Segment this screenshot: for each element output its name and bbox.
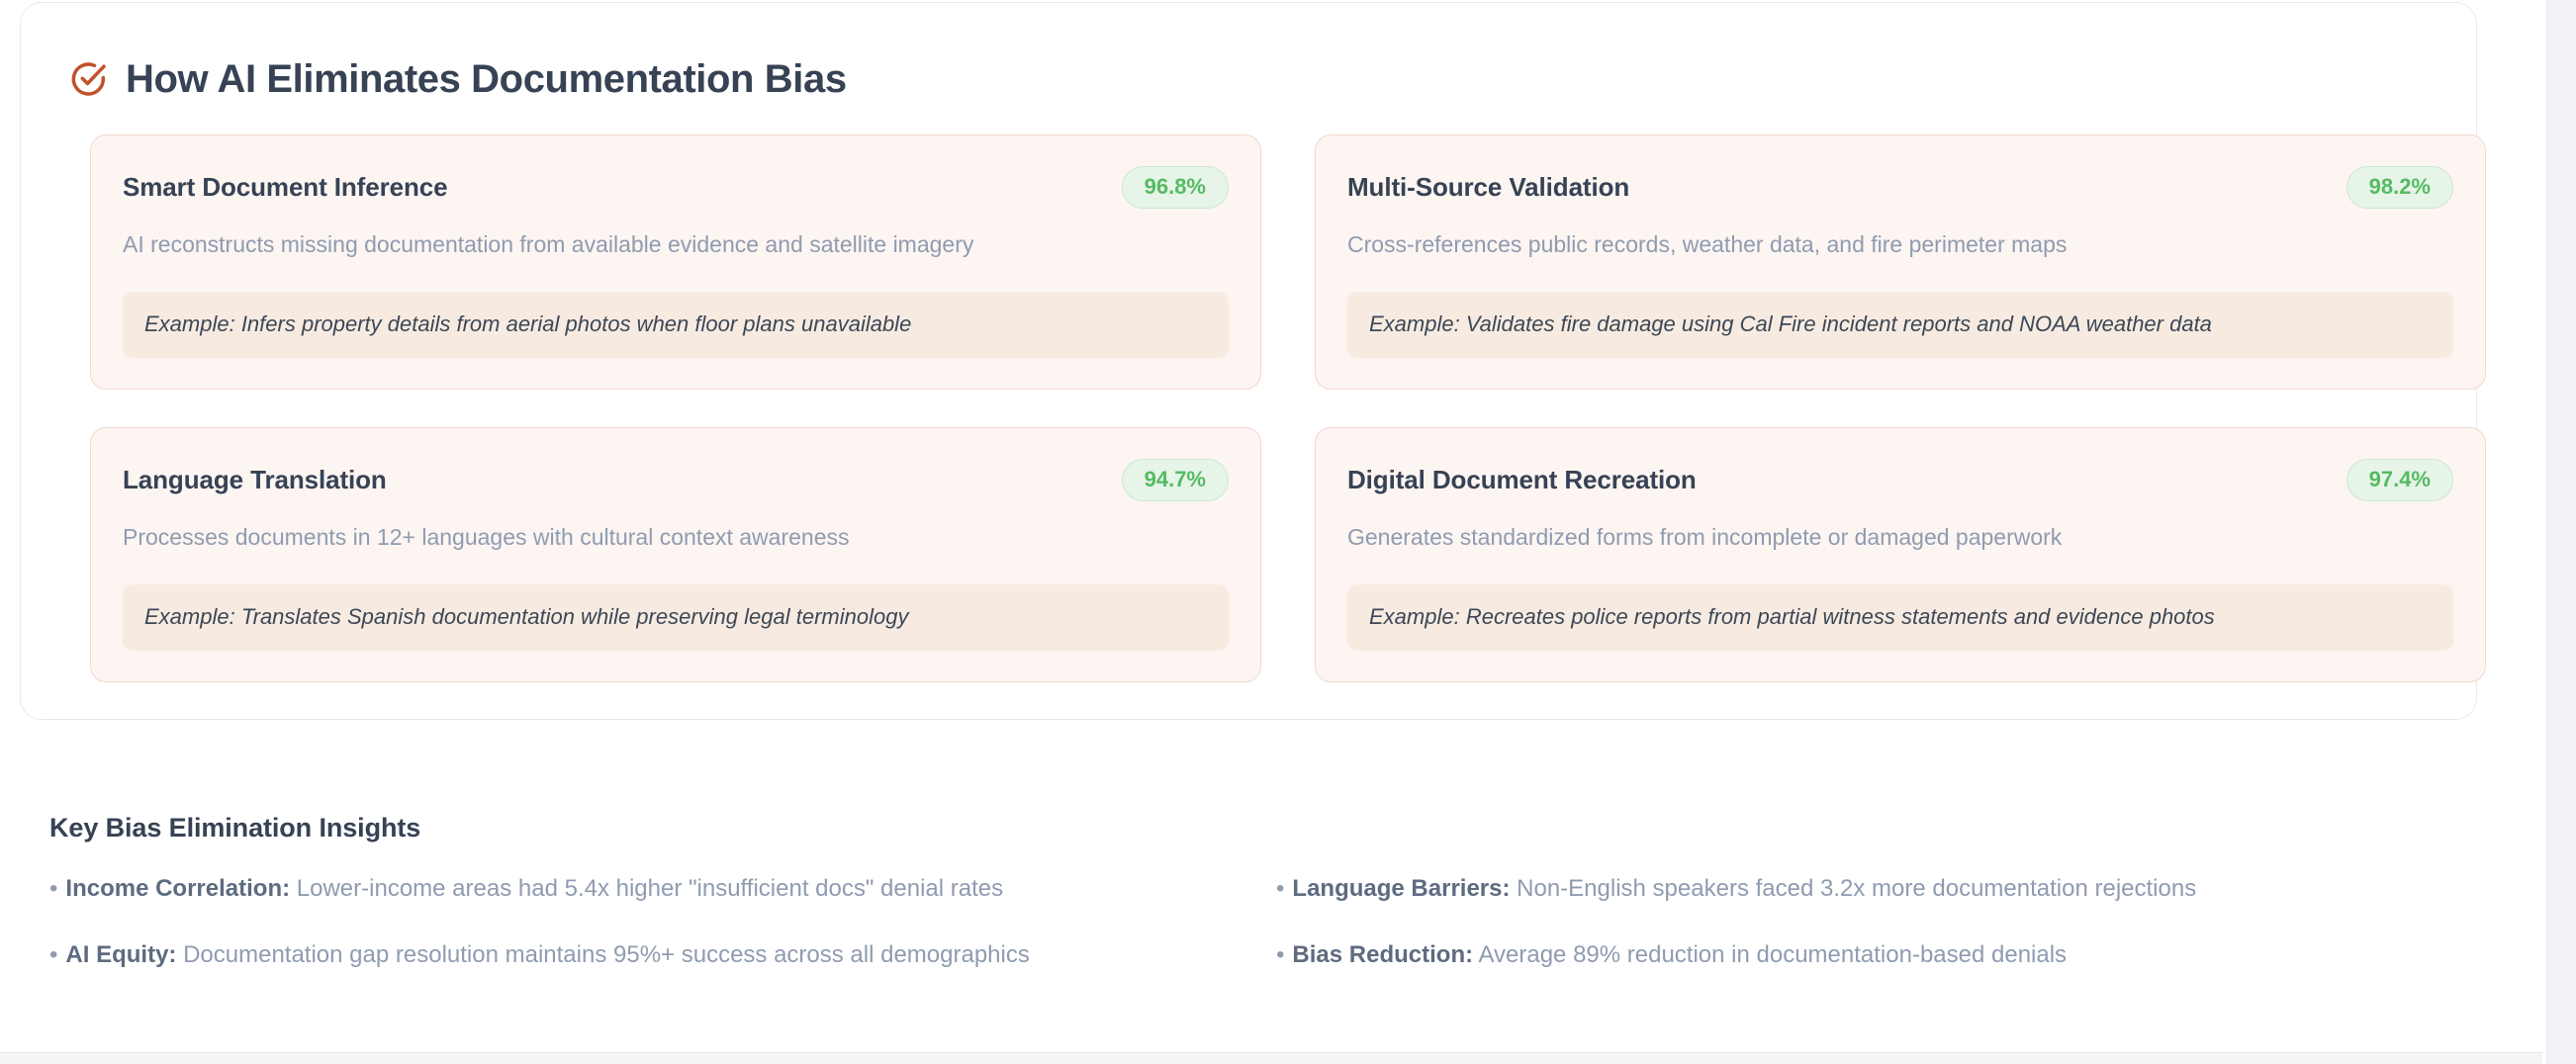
bullet-icon: • xyxy=(49,877,57,901)
card-description: AI reconstructs missing documentation fr… xyxy=(123,230,1229,260)
insight-text: Lower-income areas had 5.4x higher "insu… xyxy=(297,875,1003,902)
feature-card[interactable]: Smart Document Inference 96.8% AI recons… xyxy=(90,134,1261,390)
bullet-icon: • xyxy=(49,943,57,967)
feature-card[interactable]: Multi-Source Validation 98.2% Cross-refe… xyxy=(1315,134,2486,390)
card-description: Generates standardized forms from incomp… xyxy=(1347,523,2453,553)
feature-card[interactable]: Digital Document Recreation 97.4% Genera… xyxy=(1315,427,2486,682)
insight-item: • Bias Reduction: Average 89% reduction … xyxy=(1276,939,2463,971)
card-header: Multi-Source Validation 98.2% xyxy=(1347,165,2453,209)
card-title: Smart Document Inference xyxy=(123,173,447,202)
insight-text: Non-English speakers faced 3.2x more doc… xyxy=(1517,875,2196,902)
card-example: Example: Translates Spanish documentatio… xyxy=(123,584,1229,652)
accuracy-badge: 98.2% xyxy=(2346,166,2453,209)
insight-label: Bias Reduction: xyxy=(1292,941,1473,968)
insights-title: Key Bias Elimination Insights xyxy=(49,813,2463,843)
circle-check-icon xyxy=(68,59,108,99)
insight-text: Documentation gap resolution maintains 9… xyxy=(183,941,1030,968)
card-title: Language Translation xyxy=(123,466,387,494)
page-title: How AI Eliminates Documentation Bias xyxy=(126,59,847,99)
feature-card[interactable]: Language Translation 94.7% Processes doc… xyxy=(90,427,1261,682)
bullet-icon: • xyxy=(1276,877,1284,901)
card-example: Example: Validates fire damage using Cal… xyxy=(1347,292,2453,359)
insight-text: Average 89% reduction in documentation-b… xyxy=(1478,941,2067,968)
card-title: Multi-Source Validation xyxy=(1347,173,1629,202)
insight-label: AI Equity: xyxy=(65,941,176,968)
card-header: Digital Document Recreation 97.4% xyxy=(1347,458,2453,501)
insight-label: Income Correlation: xyxy=(65,875,290,902)
card-description: Cross-references public records, weather… xyxy=(1347,230,2453,260)
card-example: Example: Infers property details from ae… xyxy=(123,292,1229,359)
card-description: Processes documents in 12+ languages wit… xyxy=(123,523,1229,553)
insight-item: • Language Barriers: Non-English speaker… xyxy=(1276,873,2463,905)
panel-header: How AI Eliminates Documentation Bias xyxy=(68,33,847,126)
card-header: Smart Document Inference 96.8% xyxy=(123,165,1229,209)
key-insights-section: Key Bias Elimination Insights • Income C… xyxy=(49,791,2463,971)
vertical-scrollbar-track[interactable] xyxy=(2546,0,2576,1064)
insight-item: • Income Correlation: Lower-income areas… xyxy=(49,873,1276,905)
accuracy-badge: 94.7% xyxy=(1122,459,1229,501)
documentation-bias-panel: How AI Eliminates Documentation Bias Sma… xyxy=(20,2,2477,720)
card-title: Digital Document Recreation xyxy=(1347,466,1697,494)
insight-item: • AI Equity: Documentation gap resolutio… xyxy=(49,939,1276,971)
bullet-icon: • xyxy=(1276,943,1284,967)
card-example: Example: Recreates police reports from p… xyxy=(1347,584,2453,652)
feature-card-grid: Smart Document Inference 96.8% AI recons… xyxy=(90,134,2444,682)
bottom-strip xyxy=(0,1053,2542,1064)
accuracy-badge: 97.4% xyxy=(2346,459,2453,501)
insights-grid: • Income Correlation: Lower-income areas… xyxy=(49,873,2463,971)
page-root: How AI Eliminates Documentation Bias Sma… xyxy=(0,0,2542,1064)
accuracy-badge: 96.8% xyxy=(1122,166,1229,209)
card-header: Language Translation 94.7% xyxy=(123,458,1229,501)
insight-label: Language Barriers: xyxy=(1292,875,1510,902)
